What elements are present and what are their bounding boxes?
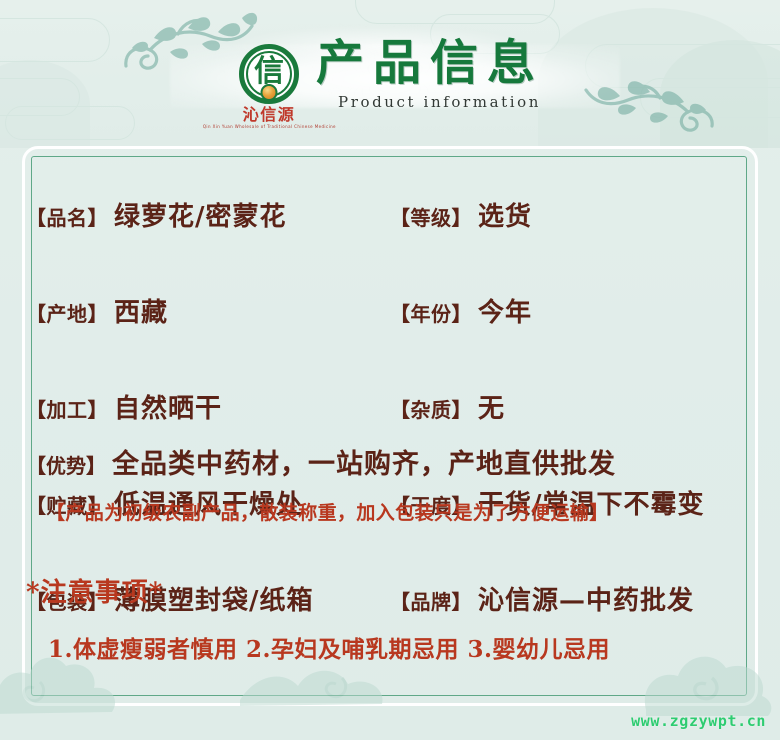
spec-list: 【品名】绿萝花/密蒙花 【等级】选货 【产地】西藏 【年份】今年 【加工】自然晒… [0,146,780,386]
spec-row: 【产地】西藏 【年份】今年 [0,292,780,340]
spec-value: 沁信源—中药批发 [478,586,694,616]
spec-value: 西藏 [114,298,168,328]
spec-value: 全品类中药材，一站购齐，产地直供批发 [112,449,616,480]
spec-value: 自然晒干 [114,394,222,424]
spec-cell-processing: 【加工】自然晒干 [26,388,222,425]
spec-value: 无 [478,394,505,424]
logo-brand-name-cn: 沁信源 [243,107,296,123]
spec-value: 选货 [478,202,532,232]
site-watermark: www.zgzywpt.cn [631,712,766,730]
spec-key: 【加工】 [26,398,108,422]
spec-key: 【杂质】 [390,398,472,422]
product-info-page: 信 沁信源 Qin Xin Yuan Wholesale of Traditio… [0,0,780,740]
page-title: 产品信息 [316,38,544,88]
spec-key: 【品牌】 [390,590,472,614]
page-header: 信 沁信源 Qin Xin Yuan Wholesale of Traditio… [0,0,780,148]
spec-cell-product-name: 【品名】绿萝花/密蒙花 [26,196,287,233]
page-subtitle: Product information [338,93,544,111]
page-title-block: 产品信息 Product information [316,38,544,111]
spec-value: 绿萝花/密蒙花 [114,202,287,232]
spec-cell-advantage: 【优势】全品类中药材，一站购齐，产地直供批发 [26,442,616,481]
spec-row: 【加工】自然晒干 【杂质】无 [0,388,780,436]
spec-key: 【等级】 [390,206,472,230]
logo-emblem-icon: 信 [239,44,299,104]
notice-items: 1.体虚瘦弱者慎用 2.孕妇及哺乳期忌用 3.婴幼儿忌用 [48,630,610,664]
spec-cell-impurity: 【杂质】无 [390,388,505,425]
spec-row: 【品名】绿萝花/密蒙花 【等级】选货 [0,196,780,244]
spec-key: 【年份】 [390,302,472,326]
spec-key: 【产地】 [26,302,108,326]
spec-value: 今年 [478,298,532,328]
spec-key: 【品名】 [26,206,108,230]
notice-heading: *注意事项* [26,572,163,609]
spec-cell-grade: 【等级】选货 [390,196,532,233]
brand-logo: 信 沁信源 Qin Xin Yuan Wholesale of Traditio… [228,44,310,132]
product-disclaimer-note: 【产品为初级农副产品，散装称重，加入包装只是为了方便运输】 [46,498,609,525]
spec-key: 【优势】 [26,454,106,478]
spec-cell-year: 【年份】今年 [390,292,532,329]
cloud-line-decoration [5,106,135,140]
spec-cell-origin: 【产地】西藏 [26,292,168,329]
logo-brand-name-en: Qin Xin Yuan Wholesale of Traditional Ch… [202,125,335,130]
logo-sun-dot [261,84,278,101]
spec-cell-brand: 【品牌】沁信源—中药批发 [390,580,694,617]
cloud-line-decoration [0,18,110,62]
vine-ornament-right [578,78,718,148]
